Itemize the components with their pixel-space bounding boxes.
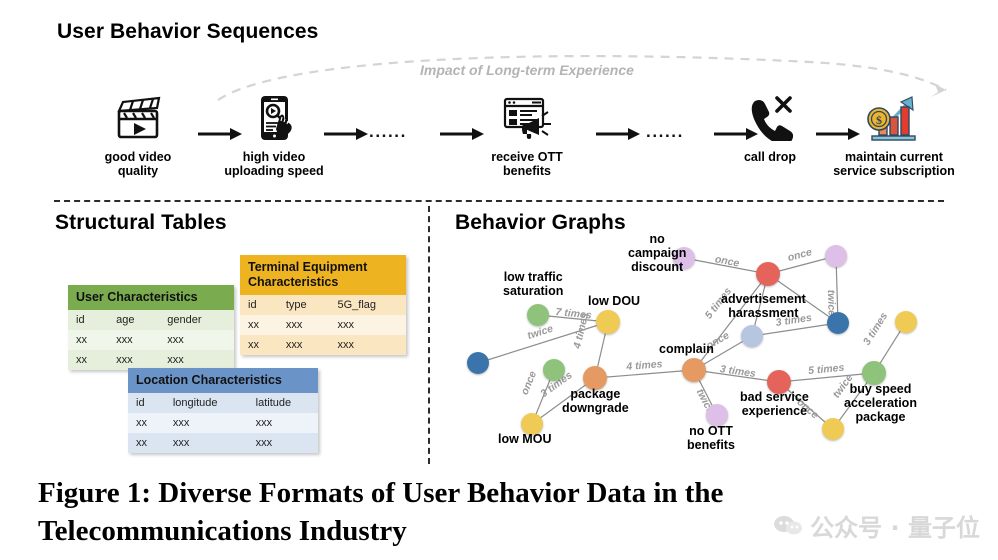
table-body: id longitude latitude xx xxx xxx xx xxx … (128, 393, 318, 453)
graph-node-label: complain (659, 342, 714, 356)
graph-node-label: advertisement harassment (721, 292, 806, 320)
long-term-experience-label: Impact of Long-term Experience (420, 62, 634, 78)
watermark-text: 公众号 · 量子位 (810, 508, 980, 543)
column-header: id (68, 310, 108, 330)
table-cell: xxx (159, 330, 234, 350)
table-header-row: id longitude latitude (128, 393, 318, 413)
table-body: id age gender xx xxx xxx xx xxx xxx (68, 310, 234, 370)
sequence-step-call-drop: call drop (722, 92, 818, 164)
table-cell: xxx (159, 350, 234, 370)
behavior-graph: 7 timestwice4 timesonce3 times4 timesonc… (440, 232, 980, 464)
graph-node[interactable] (825, 245, 847, 267)
table-header-row: id type 5G_flag (240, 295, 406, 315)
table-cell: xxx (278, 335, 330, 355)
sequence-step-label: call drop (722, 150, 818, 164)
watermark: 公众号 · 量子位 (773, 508, 980, 543)
sequence-step-label: maintain current service subscription (806, 150, 982, 178)
graph-node-label: low DOU (588, 294, 640, 308)
table-location-characteristics: Location Characteristics id longitude la… (128, 368, 318, 453)
table-row: xx xxx xxx (240, 315, 406, 335)
column-header: id (240, 295, 278, 315)
call-drop-icon (722, 92, 818, 144)
table-cell: xx (128, 413, 165, 433)
behavior-sequence-row: good video quality (54, 92, 944, 192)
table-cell: xx (128, 433, 165, 453)
horizontal-divider (54, 200, 944, 202)
vertical-divider (428, 206, 430, 464)
graph-node-label: no campaign discount (628, 232, 686, 274)
graph-node[interactable] (895, 311, 917, 333)
graph-node-label: low MOU (498, 432, 551, 446)
revenue-growth-icon: $ (806, 92, 982, 144)
table-user-characteristics: User Characteristics id age gender xx xx… (68, 285, 234, 370)
graph-node-label: package downgrade (562, 387, 629, 415)
sequence-arrow-icon (594, 128, 640, 140)
sequence-step-receive-ott-benefits: receive OTT benefits (464, 92, 590, 178)
graph-node[interactable] (596, 310, 620, 334)
column-header: 5G_flag (329, 295, 406, 315)
sequence-step-maintain-subscription: $ maintain current service subscription (806, 92, 982, 178)
table-title: Location Characteristics (128, 368, 318, 393)
graph-node[interactable] (682, 358, 706, 382)
table-cell: xxx (329, 315, 406, 335)
table-body: id type 5G_flag xx xxx xxx xx xxx xxx (240, 295, 406, 355)
column-header: type (278, 295, 330, 315)
graph-node[interactable] (741, 325, 763, 347)
table-cell: xxx (165, 433, 248, 453)
graph-node[interactable] (543, 359, 565, 381)
graph-node[interactable] (822, 418, 844, 440)
figure-root: User Behavior Sequences Structural Table… (0, 0, 998, 560)
ott-promo-megaphone-icon (464, 92, 590, 144)
sequence-step-label: good video quality (84, 150, 192, 178)
table-title: User Characteristics (68, 285, 234, 310)
table-row: xx xxx xxx (68, 350, 234, 370)
table-header-row: id age gender (68, 310, 234, 330)
table-cell: xxx (329, 335, 406, 355)
graph-node-label: buy speed acceleration package (844, 382, 917, 424)
table-cell: xxx (165, 413, 248, 433)
graph-node-label: bad service experience (740, 390, 809, 418)
sequence-ellipsis: ...... (646, 122, 684, 142)
column-header: longitude (165, 393, 248, 413)
section-title-sequences: User Behavior Sequences (57, 20, 318, 44)
graph-node[interactable] (527, 304, 549, 326)
column-header: latitude (248, 393, 318, 413)
table-title: Terminal Equipment Characteristics (240, 255, 406, 295)
graph-node[interactable] (827, 312, 849, 334)
table-terminal-equipment-characteristics: Terminal Equipment Characteristics id ty… (240, 255, 406, 355)
table-cell: xxx (108, 350, 159, 370)
table-cell: xxx (248, 413, 318, 433)
graph-node-label: no OTT benefits (687, 424, 735, 452)
table-row: xx xxx xxx (128, 413, 318, 433)
sequence-step-label: receive OTT benefits (464, 150, 590, 178)
sequence-step-good-video-quality: good video quality (84, 92, 192, 178)
sequence-ellipsis: ...... (369, 122, 407, 142)
sequence-arrow-icon (322, 128, 368, 140)
graph-node-label: low traffic saturation (503, 270, 563, 298)
table-cell: xxx (278, 315, 330, 335)
table-cell: xx (240, 315, 278, 335)
table-row: xx xxx xxx (128, 433, 318, 453)
chat-bubble-icon (773, 514, 803, 538)
table-cell: xx (68, 330, 108, 350)
caption-line-1: Figure 1: Diverse Formats of User Behavi… (38, 474, 968, 512)
graph-node[interactable] (756, 262, 780, 286)
table-row: xx xxx xxx (68, 330, 234, 350)
graph-node[interactable] (706, 404, 728, 426)
clapperboard-icon (84, 92, 192, 144)
column-header: age (108, 310, 159, 330)
column-header: id (128, 393, 165, 413)
table-cell: xxx (248, 433, 318, 453)
column-header: gender (159, 310, 234, 330)
graph-node[interactable] (467, 352, 489, 374)
table-cell: xx (240, 335, 278, 355)
table-cell: xx (68, 350, 108, 370)
sequence-step-label: high video uploading speed (188, 150, 360, 178)
table-row: xx xxx xxx (240, 335, 406, 355)
section-title-tables: Structural Tables (55, 211, 227, 235)
svg-text:$: $ (876, 113, 882, 127)
table-cell: xxx (108, 330, 159, 350)
